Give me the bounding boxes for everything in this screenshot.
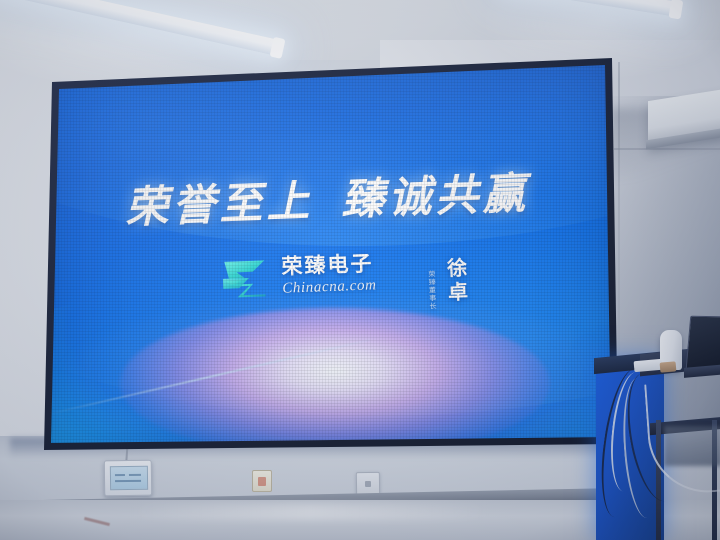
- room-photo-scene: 荣誉至上臻诚共赢: [0, 0, 720, 540]
- power-adapter-tan: [660, 361, 677, 372]
- screen-vignette: [34, 46, 624, 458]
- control-panel-readout-line: [129, 474, 141, 476]
- control-panel-readout-line: [115, 474, 125, 476]
- floor-reflection: [130, 504, 490, 520]
- screen-panel[interactable]: 荣誉至上臻诚共赢: [34, 46, 624, 458]
- control-panel-display: [110, 466, 148, 491]
- led-video-wall[interactable]: 荣誉至上臻诚共赢: [34, 46, 624, 458]
- screen-control-panel[interactable]: [104, 460, 152, 497]
- laptop-screen[interactable]: [686, 316, 720, 370]
- control-panel-readout-line: [115, 480, 141, 482]
- safety-label-plate: [252, 470, 272, 492]
